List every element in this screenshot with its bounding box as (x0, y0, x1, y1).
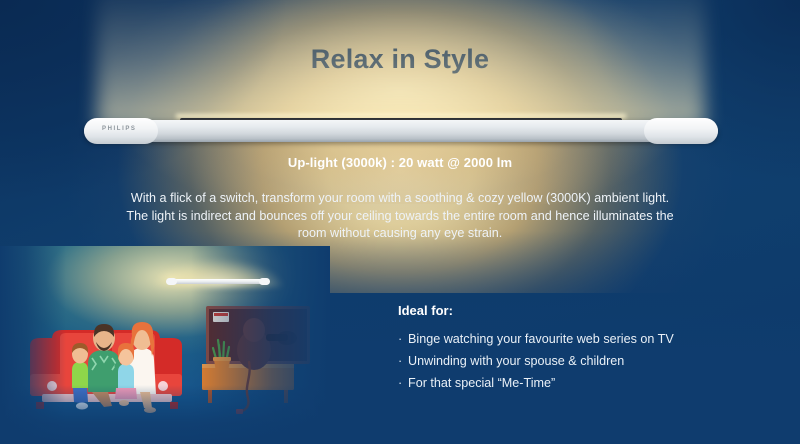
ideal-for-heading: Ideal for: (398, 303, 748, 318)
product-lamp-fixture: PHILIPS (84, 104, 718, 150)
product-spec-line: Up-light (3000k) : 20 watt @ 2000 lm (0, 155, 800, 170)
illustration-uplight-fixture (168, 279, 268, 287)
lamp-uplight-beam (97, 0, 706, 128)
ideal-for-list: · Binge watching your favourite web seri… (398, 328, 748, 394)
bullet-icon: · (398, 372, 408, 394)
product-banner: Relax in Style PHILIPS Up-light (3000k) … (0, 0, 800, 444)
illustration-lamp-cap-right (259, 278, 270, 285)
lamp-end-cap-right (644, 118, 718, 144)
list-item-label: Unwinding with your spouse & children (408, 350, 624, 372)
illustration-lamp-body (168, 279, 268, 284)
ideal-for-section: Ideal for: · Binge watching your favouri… (398, 303, 748, 394)
illustration-fade-bottom (0, 385, 330, 444)
brand-logo: PHILIPS (102, 126, 137, 132)
list-item-label: For that special “Me-Time” (408, 372, 555, 394)
bullet-icon: · (398, 350, 408, 372)
illustration-lamp-cap-left (166, 278, 177, 285)
list-item: · Unwinding with your spouse & children (398, 350, 748, 372)
list-item-label: Binge watching your favourite web series… (408, 328, 674, 350)
product-description: With a flick of a switch, transform your… (120, 190, 680, 243)
list-item: · Binge watching your favourite web seri… (398, 328, 748, 350)
bullet-icon: · (398, 328, 408, 350)
list-item: · For that special “Me-Time” (398, 372, 748, 394)
lamp-body (84, 120, 718, 142)
